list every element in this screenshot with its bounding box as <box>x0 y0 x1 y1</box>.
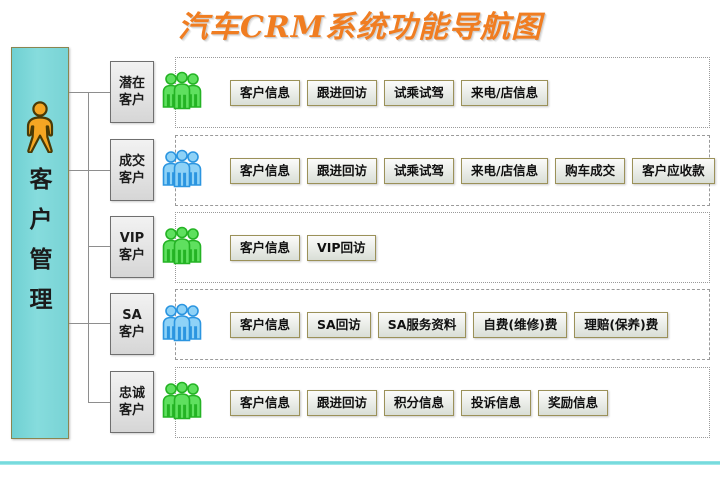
button-strip-sa-customer: 客户信息 SA回访 SA服务资料 自费(维修)费 理赔(保养)费 <box>230 312 668 338</box>
button-strip-closed-deal-customer: 客户信息 跟进回访 试乘试驾 来电/店信息 购车成交 客户应收款 <box>230 158 715 184</box>
feature-button[interactable]: 跟进回访 <box>307 158 377 184</box>
feature-button[interactable]: 购车成交 <box>555 158 625 184</box>
category-label-line1: 潜在 <box>119 75 145 92</box>
sidebar-label-char-2: 户 <box>12 200 70 240</box>
category-label-line2: 客户 <box>119 170 145 187</box>
sidebar-customer-management[interactable]: 客 户 管 理 <box>11 47 69 439</box>
feature-button[interactable]: SA回访 <box>307 312 371 338</box>
connector-trunk <box>88 92 89 402</box>
feature-button[interactable]: 试乘试驾 <box>384 158 454 184</box>
feature-button[interactable]: SA服务资料 <box>378 312 467 338</box>
people-group-icon <box>160 225 204 269</box>
button-strip-loyal-customer: 客户信息 跟进回访 积分信息 投诉信息 奖励信息 <box>230 390 608 416</box>
bottom-divider <box>0 461 720 465</box>
category-label-line2: 客户 <box>119 247 145 264</box>
feature-button[interactable]: 理赔(保养)费 <box>574 312 668 338</box>
category-label-line1: VIP <box>120 230 144 247</box>
people-group-icon <box>160 380 204 424</box>
connector-branch-4 <box>69 323 114 324</box>
page-title: 汽车CRM系统功能导航图 <box>0 2 720 46</box>
category-label-line1: SA <box>122 307 141 324</box>
sidebar-label: 客 户 管 理 <box>12 160 70 320</box>
category-label-line1: 成交 <box>119 153 145 170</box>
button-strip-vip-customer: 客户信息 VIP回访 <box>230 235 376 261</box>
category-label-line2: 客户 <box>119 92 145 109</box>
category-box-vip-customer[interactable]: VIP 客户 <box>110 216 154 278</box>
people-group-icon <box>160 70 204 114</box>
feature-button[interactable]: 跟进回访 <box>307 390 377 416</box>
category-label-line2: 客户 <box>119 402 145 419</box>
feature-button[interactable]: 试乘试驾 <box>384 80 454 106</box>
category-box-sa-customer[interactable]: SA 客户 <box>110 293 154 355</box>
feature-button[interactable]: 客户信息 <box>230 390 300 416</box>
feature-button[interactable]: 积分信息 <box>384 390 454 416</box>
feature-button[interactable]: 跟进回访 <box>307 80 377 106</box>
sidebar-label-char-3: 管 <box>12 240 70 280</box>
sidebar-label-char-4: 理 <box>12 280 70 320</box>
feature-button[interactable]: 客户信息 <box>230 80 300 106</box>
button-strip-potential-customer: 客户信息 跟进回访 试乘试驾 来电/店信息 <box>230 80 548 106</box>
feature-button[interactable]: 投诉信息 <box>461 390 531 416</box>
feature-button[interactable]: 奖励信息 <box>538 390 608 416</box>
people-group-icon <box>160 302 204 346</box>
category-box-closed-deal-customer[interactable]: 成交 客户 <box>110 139 154 201</box>
sidebar-label-char-1: 客 <box>12 160 70 200</box>
category-box-loyal-customer[interactable]: 忠诚 客户 <box>110 371 154 433</box>
feature-button[interactable]: 来电/店信息 <box>461 80 548 106</box>
feature-button[interactable]: 来电/店信息 <box>461 158 548 184</box>
feature-button[interactable]: 自费(维修)费 <box>473 312 567 338</box>
category-label-line2: 客户 <box>119 324 145 341</box>
connector-branch-2 <box>69 170 114 171</box>
connector-branch-1 <box>69 92 114 93</box>
category-label-line1: 忠诚 <box>119 385 145 402</box>
feature-button[interactable]: 客户信息 <box>230 235 300 261</box>
feature-button[interactable]: VIP回访 <box>307 235 376 261</box>
feature-button[interactable]: 客户信息 <box>230 158 300 184</box>
feature-button[interactable]: 客户信息 <box>230 312 300 338</box>
people-group-icon <box>160 148 204 192</box>
category-box-potential-customer[interactable]: 潜在 客户 <box>110 61 154 123</box>
feature-button[interactable]: 客户应收款 <box>632 158 715 184</box>
person-icon <box>20 101 60 153</box>
